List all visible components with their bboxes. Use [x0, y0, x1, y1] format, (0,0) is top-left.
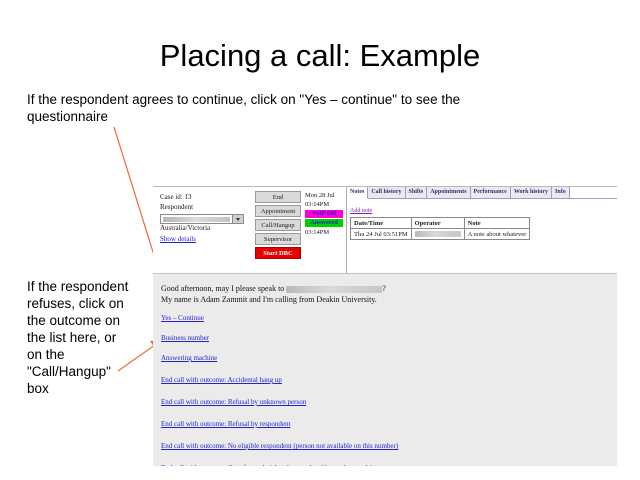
outcome-refusal-unknown-person-link[interactable]: End call with outcome: Refusal by unknow…	[161, 398, 398, 407]
notes-tab-panel: Notes Call history Shifts Appointments P…	[346, 187, 617, 274]
outcome-yes-continue-link[interactable]: Yes – Continue	[161, 314, 398, 323]
script-line1-before: Good afternoon, may I please speak to	[161, 284, 284, 293]
table-row: Thu 24 Jul 03:51PM A note about whatever	[351, 229, 530, 240]
tab-appointments[interactable]: Appointments	[427, 187, 470, 198]
embedded-app-screenshot: Case id: 13 Respondent Australia/Victori…	[153, 186, 617, 466]
column-header-datetime: Date/Time	[351, 218, 412, 229]
status-time-bottom: 03:14PM	[305, 228, 347, 237]
annotation-left-text: If the respondent refuses, click on the …	[27, 278, 135, 397]
action-button-column: End Appointment Call/Hangup Supervisor S…	[255, 191, 301, 261]
tab-call-history[interactable]: Call history	[368, 187, 405, 198]
tab-shifts[interactable]: Shifts	[406, 187, 428, 198]
appointment-button[interactable]: Appointment	[255, 205, 301, 217]
show-details-link[interactable]: Show details	[160, 235, 196, 245]
outcome-business-number-link[interactable]: Business number	[161, 334, 398, 343]
outcome-answering-machine-link[interactable]: Answering machine	[161, 354, 398, 363]
cell-operator	[411, 229, 464, 240]
outcome-out-of-sample-link[interactable]: End call with outcome: Out of sample (al…	[161, 464, 398, 466]
script-line2: My name is Adam Zammit and I'm calling f…	[161, 295, 377, 304]
call-hangup-button[interactable]: Call/Hangup	[255, 219, 301, 231]
case-id-label: Case id: 13	[160, 193, 248, 203]
call-script-text: Good afternoon, may I please speak to ? …	[161, 283, 386, 305]
start-dbc-button[interactable]: Start DBC	[255, 247, 301, 259]
tab-work-history[interactable]: Work history	[511, 187, 552, 198]
supervisor-button[interactable]: Supervisor	[255, 233, 301, 245]
notes-table: Date/Time Operator Note Thu 24 Jul 03:51…	[350, 217, 530, 240]
outcome-link-list: Yes – Continue Business number Answering…	[161, 314, 398, 466]
status-column: Mon 28 Jul 03:14PM VoIP Off Answered 03:…	[305, 191, 347, 237]
chevron-down-icon[interactable]	[232, 215, 243, 223]
status-time-top: 03:14PM	[305, 200, 347, 209]
voip-status-badge: VoIP Off	[305, 210, 343, 218]
cell-datetime: Thu 24 Jul 03:51PM	[351, 229, 412, 240]
answered-status-badge: Answered	[305, 219, 343, 227]
outcome-accidental-hangup-link[interactable]: End call with outcome: Accidental hang u…	[161, 376, 398, 385]
script-name-redacted	[286, 286, 382, 293]
tab-performance[interactable]: Performance	[471, 187, 511, 198]
app-header-area: Case id: 13 Respondent Australia/Victori…	[153, 186, 617, 274]
table-header-row: Date/Time Operator Note	[351, 218, 530, 229]
respondent-value-redacted	[163, 217, 230, 222]
case-info-block: Case id: 13 Respondent Australia/Victori…	[160, 193, 248, 244]
outcome-refusal-respondent-link[interactable]: End call with outcome: Refusal by respon…	[161, 420, 398, 429]
page-title: Placing a call: Example	[0, 38, 640, 74]
respondent-label: Respondent	[160, 203, 248, 213]
app-script-area: Good afternoon, may I please speak to ? …	[153, 273, 617, 466]
tab-bar: Notes Call history Shifts Appointments P…	[347, 187, 617, 199]
column-header-operator: Operator	[411, 218, 464, 229]
timezone-label: Australia/Victoria	[160, 224, 248, 234]
annotation-top-text: If the respondent agrees to continue, cl…	[27, 91, 497, 125]
end-button[interactable]: End	[255, 191, 301, 203]
cell-note: A note about whatever	[464, 229, 530, 240]
tab-info[interactable]: Info	[552, 187, 570, 198]
tab-notes[interactable]: Notes	[347, 187, 368, 199]
outcome-no-eligible-respondent-link[interactable]: End call with outcome: No eligible respo…	[161, 442, 398, 451]
status-date: Mon 28 Jul	[305, 191, 347, 200]
column-header-note: Note	[464, 218, 530, 229]
script-line1-after: ?	[382, 284, 386, 293]
add-note-link[interactable]: Add note	[350, 208, 372, 214]
respondent-select[interactable]	[160, 214, 244, 224]
